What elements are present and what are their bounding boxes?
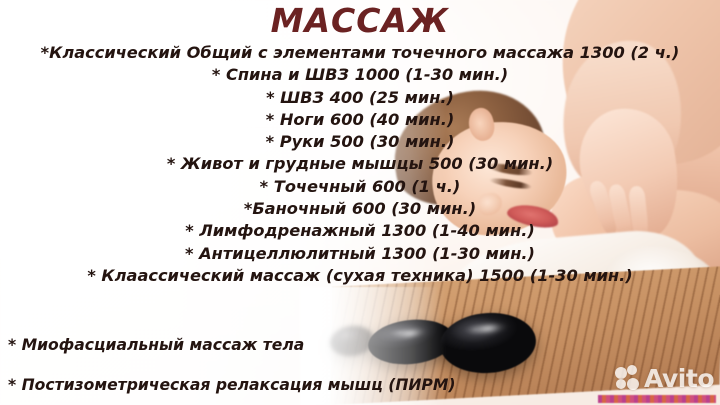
watermark-color-bar xyxy=(598,395,716,403)
extra-service-item: * Миофасциальный массаж тела xyxy=(8,325,608,365)
price-list-item: * Точечный 600 (1 ч.) xyxy=(0,176,720,198)
avito-logo-dot xyxy=(615,367,627,379)
price-list-item: * Лимфодренажный 1300 (1-40 мин.) xyxy=(0,220,720,242)
price-list-item: * ШВЗ 400 (25 мин.) xyxy=(0,87,720,109)
massage-price-poster: МАССАЖ *Классический Общий с элементами … xyxy=(0,0,720,405)
price-list-item: * Руки 500 (30 мин.) xyxy=(0,131,720,153)
avito-logo-dot xyxy=(616,379,626,389)
page-title: МАССАЖ xyxy=(0,4,720,37)
price-list-item: * Живот и грудные мышцы 500 (30 мин.) xyxy=(0,153,720,175)
price-list: *Классический Общий с элементами точечно… xyxy=(0,42,720,287)
price-list-item: * Клаассический массаж (сухая техника) 1… xyxy=(0,265,720,287)
extra-services-list: * Миофасциальный массаж тела * Постизоме… xyxy=(8,325,608,405)
avito-logo-dot xyxy=(627,378,639,390)
price-list-item: * Ноги 600 (40 мин.) xyxy=(0,109,720,131)
extra-service-item: * Постизометрическая релаксация мышц (ПИ… xyxy=(8,365,608,405)
avito-logo-dot xyxy=(627,365,637,375)
price-list-item: *Классический Общий с элементами точечно… xyxy=(0,42,720,64)
avito-wordmark: Avito xyxy=(644,366,714,391)
avito-logo-icon xyxy=(615,365,641,391)
price-list-item: * Антицеллюлитный 1300 (1-30 мин.) xyxy=(0,243,720,265)
poster-text-layer: МАССАЖ *Классический Общий с элементами … xyxy=(0,0,720,405)
price-list-item: * Спина и ШВЗ 1000 (1-30 мин.) xyxy=(0,64,720,86)
price-list-item: *Баночный 600 (30 мин.) xyxy=(0,198,720,220)
avito-watermark: Avito xyxy=(615,365,714,391)
